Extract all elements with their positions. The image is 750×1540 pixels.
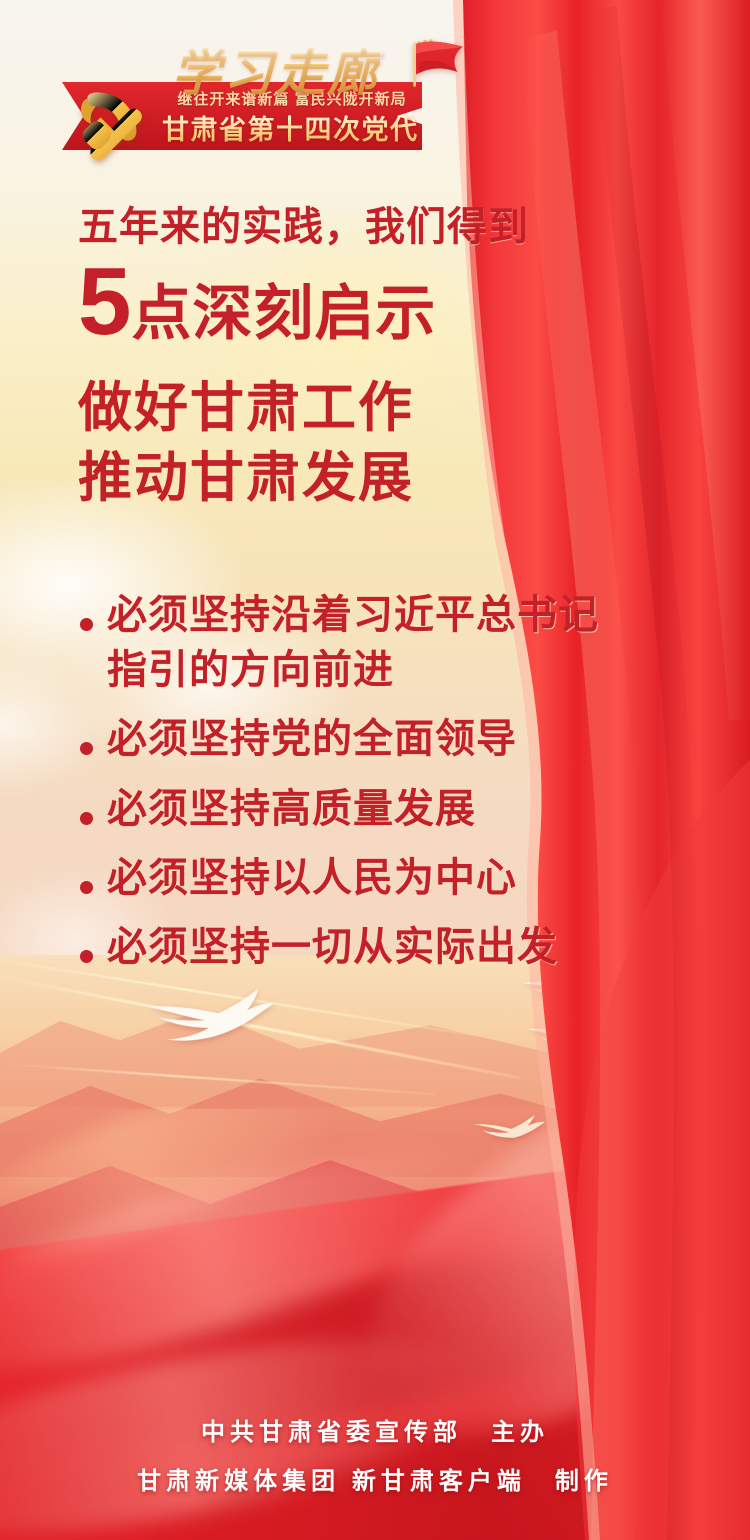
header-banner: 继往开来谱新篇 富民兴陇开新局 甘肃省第十四次党代会 xyxy=(62,36,422,154)
party-emblem-hammer-sickle-icon xyxy=(74,82,152,162)
headline-subtitle-block: 做好甘肃工作 推动甘肃发展 xyxy=(78,373,598,513)
red-flag-icon xyxy=(404,38,464,90)
list-item: 必须坚持以人民为中心 xyxy=(80,851,680,906)
list-item: 必须坚持一切从实际出发 xyxy=(80,920,680,975)
bullet-dot-icon xyxy=(80,950,93,963)
key-points-list: 必须坚持沿着习近平总书记 指引的方向前进 必须坚持党的全面领导 必须坚持高质量发… xyxy=(80,588,680,989)
footer-line-1: 中共甘肃省委宣传部 主办 xyxy=(0,1412,750,1447)
bullet-dot-icon xyxy=(80,881,93,894)
poster-root: 继往开来谱新篇 富民兴陇开新局 甘肃省第十四次党代会 xyxy=(0,0,750,1540)
footer-line-2: 甘肃新媒体集团 新甘肃客户端 制作 xyxy=(0,1461,750,1496)
list-item-line-2: 指引的方向前进 xyxy=(107,643,599,698)
bullet-dot-icon xyxy=(80,618,93,631)
list-item: 必须坚持高质量发展 xyxy=(80,782,680,837)
headline-count-row: 5 点深刻启示 xyxy=(78,256,598,347)
list-item-text: 必须坚持高质量发展 xyxy=(107,782,476,837)
list-item-text: 必须坚持沿着习近平总书记 指引的方向前进 xyxy=(107,588,599,698)
headline-number-suffix: 点深刻启示 xyxy=(131,284,436,344)
headline-number: 5 xyxy=(78,256,129,347)
list-item: 必须坚持沿着习近平总书记 指引的方向前进 xyxy=(80,588,680,698)
list-item-line-1: 必须坚持一切从实际出发 xyxy=(107,925,558,969)
list-item-line-1: 必须坚持以人民为中心 xyxy=(107,856,517,900)
headline-subtitle-line-1: 做好甘肃工作 xyxy=(78,373,598,443)
list-item-line-1: 必须坚持党的全面领导 xyxy=(107,717,517,761)
list-item-text: 必须坚持以人民为中心 xyxy=(107,851,517,906)
list-item-line-1: 必须坚持沿着习近平总书记 xyxy=(107,593,599,637)
footer-credits: 中共甘肃省委宣传部 主办 甘肃新媒体集团 新甘肃客户端 制作 xyxy=(0,1412,750,1496)
list-item-line-1: 必须坚持高质量发展 xyxy=(107,787,476,831)
list-item: 必须坚持党的全面领导 xyxy=(80,712,680,767)
bullet-dot-icon xyxy=(80,742,93,755)
banner-main-title: 甘肃省第十四次党代会 xyxy=(162,108,418,147)
headline-block: 五年来的实践，我们得到 5 点深刻启示 做好甘肃工作 推动甘肃发展 xyxy=(78,204,598,514)
headline-subtitle-line-2: 推动甘肃发展 xyxy=(78,443,598,513)
headline-kicker: 五年来的实践，我们得到 xyxy=(78,204,598,250)
banner-script-title: 学习走廊 xyxy=(172,34,380,105)
bullet-dot-icon xyxy=(80,812,93,825)
list-item-text: 必须坚持一切从实际出发 xyxy=(107,920,558,975)
list-item-text: 必须坚持党的全面领导 xyxy=(107,712,517,767)
